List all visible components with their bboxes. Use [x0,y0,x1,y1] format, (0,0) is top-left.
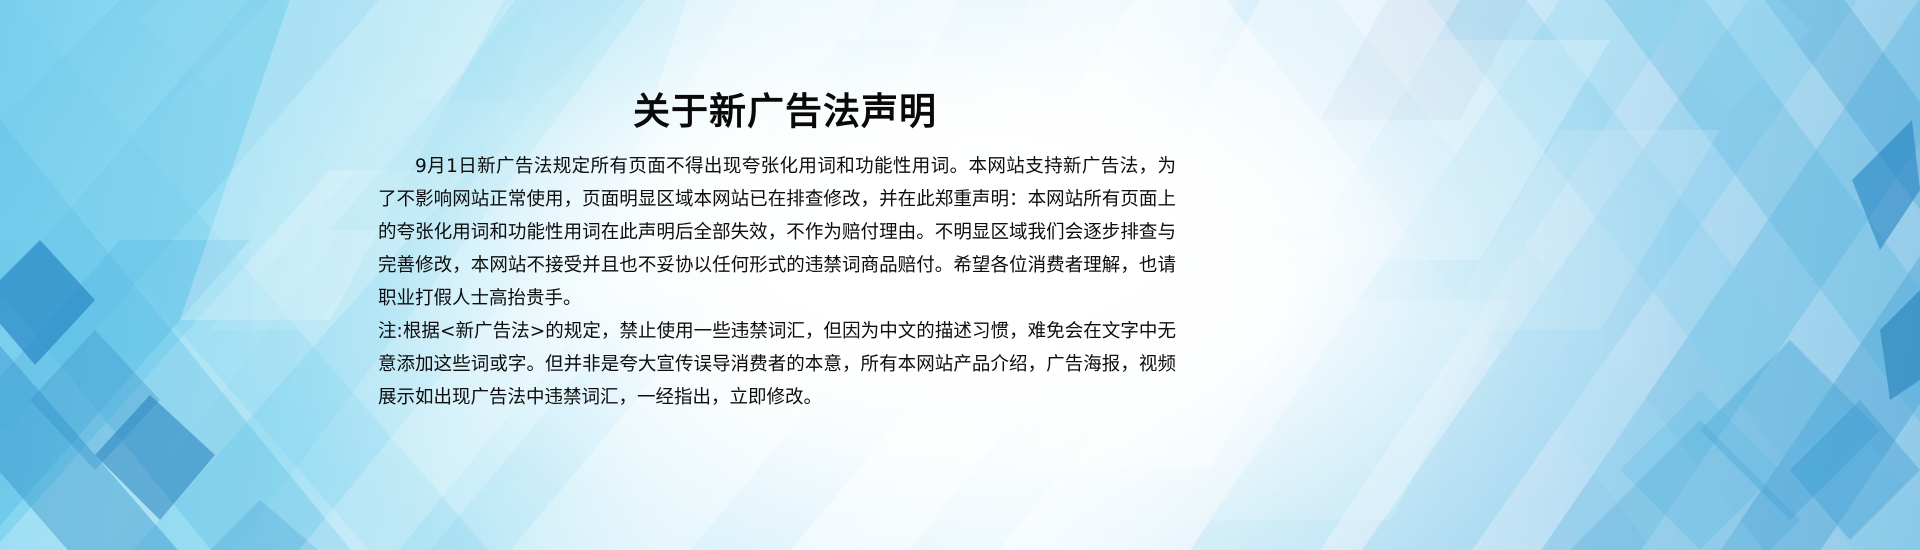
advertising-law-statement-banner: 关于新广告法声明 9月1日新广告法规定所有页面不得出现夸张化用词和功能性用词。本… [0,0,1920,550]
statement-body: 9月1日新广告法规定所有页面不得出现夸张化用词和功能性用词。本网站支持新广告法，… [378,150,1176,414]
statement-paragraph-1: 9月1日新广告法规定所有页面不得出现夸张化用词和功能性用词。本网站支持新广告法，… [378,150,1176,315]
statement-paragraph-2: 注:根据<新广告法>的规定，禁止使用一些违禁词汇，但因为中文的描述习惯，难免会在… [378,315,1176,414]
statement-content: 关于新广告法声明 9月1日新广告法规定所有页面不得出现夸张化用词和功能性用词。本… [0,0,1920,550]
page-title: 关于新广告法声明 [0,88,1570,136]
